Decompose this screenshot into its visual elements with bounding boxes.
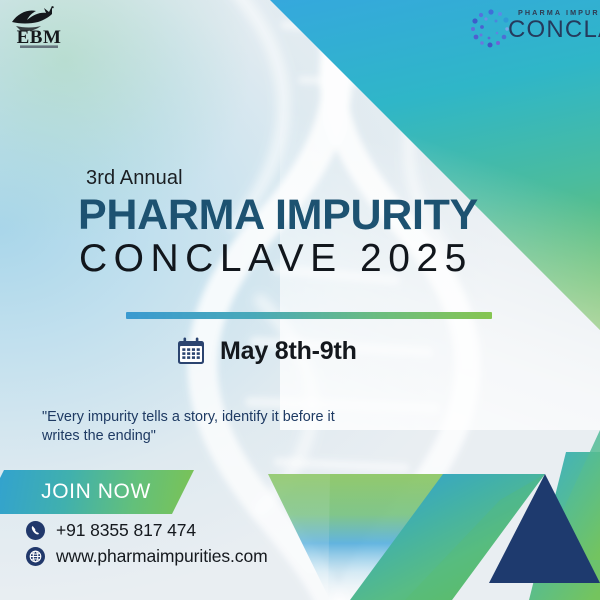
join-now-button[interactable]: JOIN NOW — [0, 470, 194, 514]
ebm-logo[interactable]: EBM — [8, 4, 70, 52]
contact-block: +91 8355 817 474 www.pharmaimpurities.co… — [26, 520, 268, 572]
conclave-logo[interactable]: PHARMA IMPURITY CONCLAVE — [470, 6, 588, 52]
phone-icon — [26, 521, 45, 540]
join-now-label: JOIN NOW — [25, 480, 151, 504]
calendar-icon — [176, 336, 206, 366]
conclave-logo-main-text: CONCLAVE — [508, 18, 600, 42]
gradient-divider — [126, 312, 492, 319]
phone-number: +91 8355 817 474 — [56, 520, 196, 541]
poster-canvas: EBM — [0, 0, 600, 600]
contact-website-row[interactable]: www.pharmaimpurities.com — [26, 546, 268, 567]
globe-icon — [26, 547, 45, 566]
contact-phone-row[interactable]: +91 8355 817 474 — [26, 520, 268, 541]
date-row: May 8th-9th — [176, 336, 357, 366]
svg-text:EBM: EBM — [17, 27, 62, 48]
headline-title-sub: CONCLAVE 2025 — [79, 237, 556, 281]
molecule-dots-icon — [470, 8, 512, 50]
event-tagline-quote: "Every impurity tells a story, identify … — [42, 408, 342, 447]
headline-kicker: 3rd Annual — [86, 168, 556, 188]
headline-block: 3rd Annual PHARMA IMPURITY CONCLAVE 2025 — [86, 168, 556, 281]
headline-title-main: PHARMA IMPURITY — [78, 194, 556, 237]
event-date: May 8th-9th — [220, 337, 357, 366]
website-url: www.pharmaimpurities.com — [56, 546, 268, 567]
